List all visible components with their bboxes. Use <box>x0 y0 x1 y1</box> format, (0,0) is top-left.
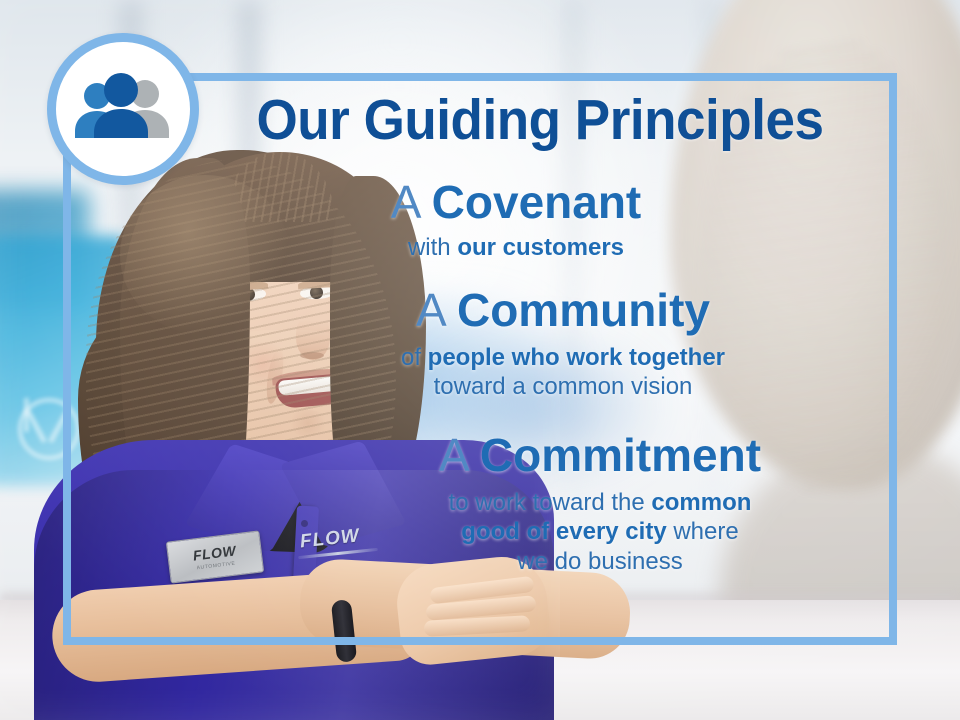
principle-keyword: Covenant <box>432 176 642 228</box>
principle-subtext-bold-2: good of every city <box>461 518 666 545</box>
principle-community: A Community of people who work together … <box>180 286 890 401</box>
principle-title: A Commitment <box>310 431 890 480</box>
principle-article: A <box>391 176 419 228</box>
principle-subtext: to work toward the common good of every … <box>310 488 890 576</box>
principles-list: A Covenant with our customers A Communit… <box>180 178 890 582</box>
people-group-icon <box>71 72 175 146</box>
principle-commitment: A Commitment to work toward the common g… <box>180 431 890 576</box>
principle-subtext: with our customers <box>180 233 852 262</box>
principle-title: A Community <box>236 286 890 335</box>
principle-article: A <box>416 284 444 336</box>
principle-subtext-plain: with <box>408 234 457 261</box>
principle-article: A <box>439 429 467 481</box>
guiding-principles-graphic: FLOW FLOW AUTOMOTIVE <box>0 0 960 720</box>
principle-subtext-plain: of <box>401 344 428 371</box>
principle-keyword: Commitment <box>480 429 761 481</box>
principle-subtext-bold: common <box>651 489 751 516</box>
people-group-badge <box>47 33 199 185</box>
principle-subtext-bold: people who work together <box>428 344 725 371</box>
principle-title: A Covenant <box>180 178 852 227</box>
principle-subtext: of people who work together toward a com… <box>236 343 890 402</box>
principle-subtext-plain-2: where <box>667 518 739 545</box>
principle-covenant: A Covenant with our customers <box>180 178 890 262</box>
principle-subtext-plain: to work toward the <box>449 489 652 516</box>
principle-subtext-line2: toward a common vision <box>434 373 693 400</box>
principle-subtext-line3: we do business <box>517 548 682 575</box>
principle-keyword: Community <box>457 284 710 336</box>
principle-subtext-bold: our customers <box>457 234 624 261</box>
page-title: Our Guiding Principles <box>233 92 847 149</box>
